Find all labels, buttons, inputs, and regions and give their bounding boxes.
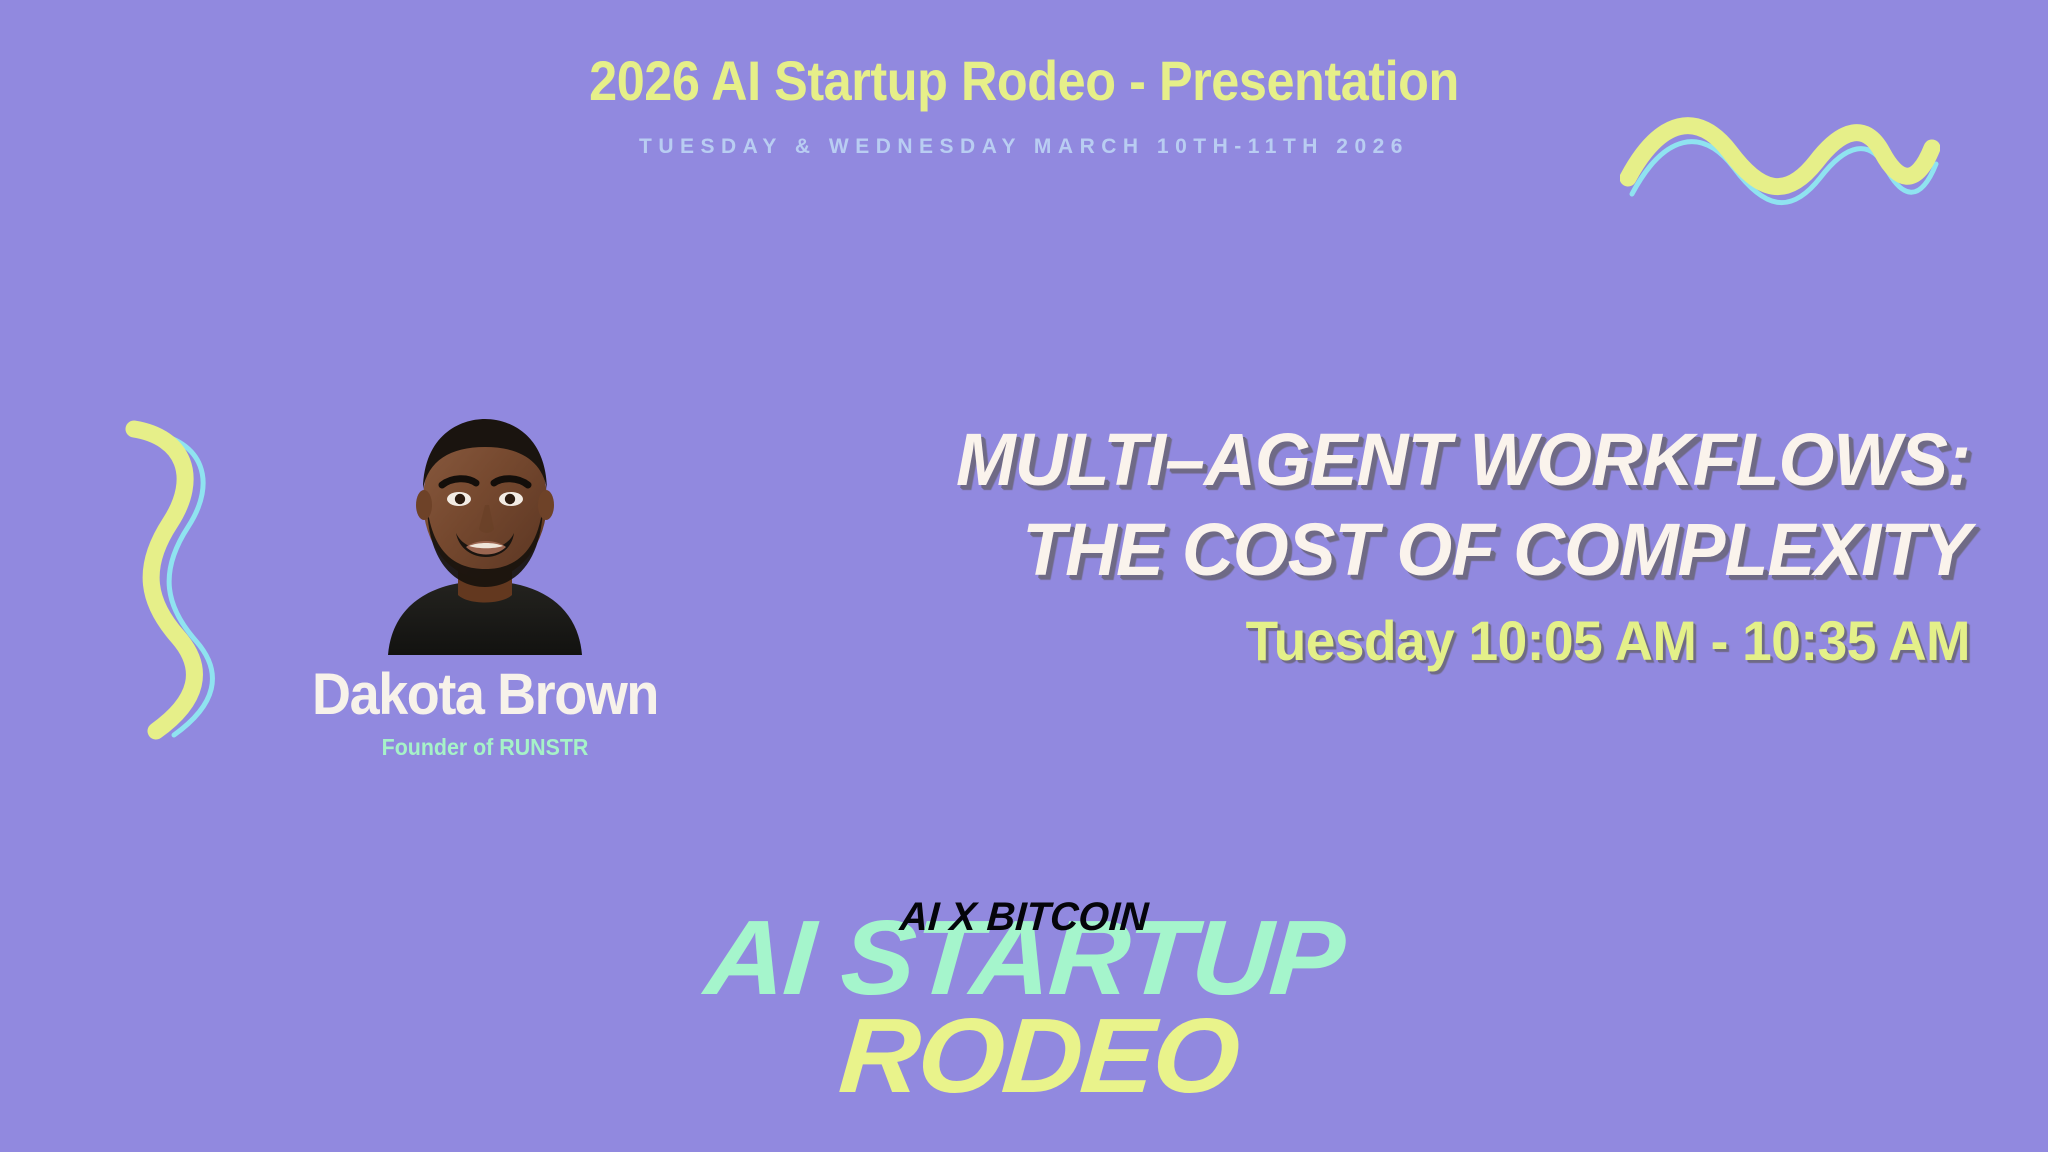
brand-logo: AI STARTUP RODEO AI X BITCOIN xyxy=(0,895,2048,1115)
brand-tagline: AI X BITCOIN xyxy=(19,895,2029,940)
speaker-headshot xyxy=(370,405,600,655)
talk-title-line-1: MULTI–AGENT WORKFLOWS: xyxy=(738,415,1970,505)
vertical-squiggle-icon xyxy=(108,415,238,745)
speaker-card: Dakota Brown Founder of RUNSTR xyxy=(270,405,700,761)
event-dates-subtitle: TUESDAY & WEDNESDAY MARCH 10TH-11TH 2026 xyxy=(0,135,2048,159)
speaker-name: Dakota Brown xyxy=(285,661,685,728)
page-title: 2026 AI Startup Rodeo - Presentation xyxy=(102,48,1945,113)
talk-time: Tuesday 10:05 AM - 10:35 AM xyxy=(764,608,1971,673)
talk-details: MULTI–AGENT WORKFLOWS: THE COST OF COMPL… xyxy=(700,415,1970,673)
speaker-role: Founder of RUNSTR xyxy=(285,734,685,761)
brand-logo-line-2: RODEO xyxy=(0,1003,2048,1109)
presentation-slide: 2026 AI Startup Rodeo - Presentation TUE… xyxy=(0,0,2048,1152)
talk-title-line-2: THE COST OF COMPLEXITY xyxy=(738,505,1970,595)
